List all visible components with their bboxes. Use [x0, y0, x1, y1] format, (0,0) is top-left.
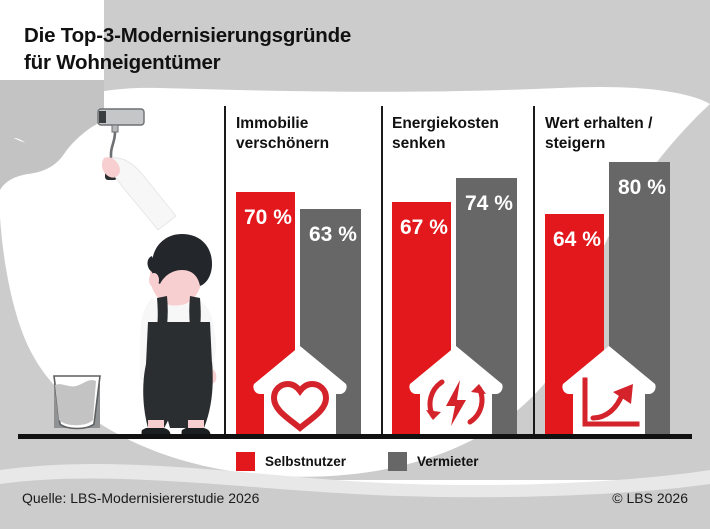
group-label-2: Energiekosten senken [392, 114, 542, 154]
chart-legend: Selbstnutzer Vermieter [236, 452, 479, 471]
infographic-root: Die Top-3-Modernisierungsgründe für Wohn… [0, 0, 710, 529]
legend-item-vermieter[interactable]: Vermieter [388, 452, 479, 471]
bar-value-selbstnutzer-1: 70 % [244, 206, 292, 230]
group-label-3: Wert erhalten / steigern [545, 114, 695, 154]
legend-item-selbstnutzer[interactable]: Selbstnutzer [236, 452, 346, 471]
source-note: Quelle: LBS-Modernisiererstudie 2026 [22, 490, 259, 506]
legend-label-vermieter: Vermieter [417, 454, 479, 469]
house-growth-icon [561, 344, 657, 436]
bar-value-selbstnutzer-3: 64 % [553, 228, 601, 252]
bar-value-selbstnutzer-2: 67 % [400, 216, 448, 240]
group-label-1: Immobilie verschönern [236, 114, 376, 154]
house-energy-icon [408, 344, 504, 436]
copyright-note: © LBS 2026 [612, 490, 688, 506]
legend-label-selbstnutzer: Selbstnutzer [265, 454, 346, 469]
group-divider-2 [381, 106, 383, 437]
legend-swatch-red-icon [236, 452, 255, 471]
bar-value-vermieter-1: 63 % [309, 223, 357, 247]
bar-chart: Immobilie verschönern 70 % 63 % Energiek… [0, 0, 710, 529]
bar-value-vermieter-3: 80 % [618, 176, 666, 200]
legend-swatch-gray-icon [388, 452, 407, 471]
bar-value-vermieter-2: 74 % [465, 192, 513, 216]
group-divider-1 [224, 106, 226, 437]
group-divider-3 [533, 106, 535, 437]
chart-baseline [18, 434, 692, 439]
house-heart-icon [252, 344, 348, 436]
